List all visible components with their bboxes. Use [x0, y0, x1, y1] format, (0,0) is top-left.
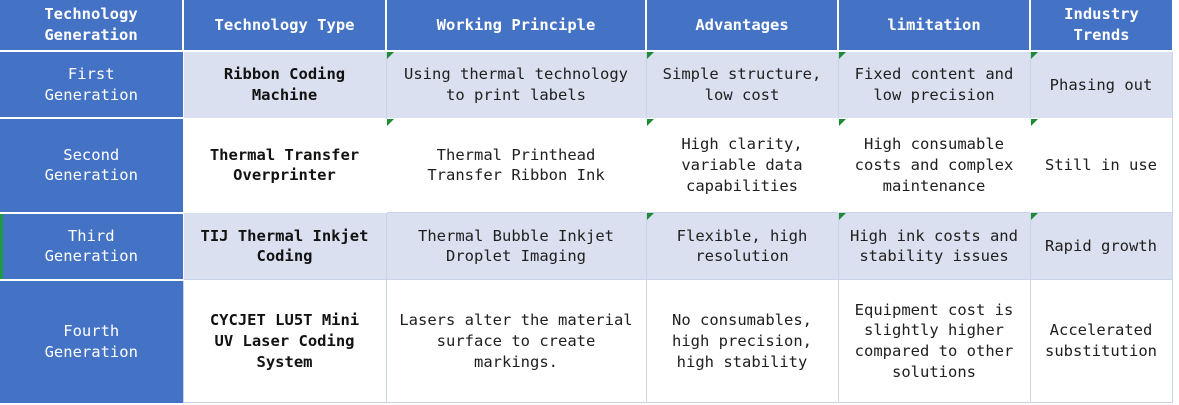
cell-limitation[interactable]: High ink costs andstability issues	[838, 213, 1030, 280]
cell-advantages[interactable]: Flexible, highresolution	[646, 213, 838, 280]
column-header-limitation[interactable]: limitation	[838, 0, 1030, 51]
column-header-line-1: Industry	[1035, 4, 1168, 25]
cell-text: Thermal TransferOverprinter	[188, 145, 382, 187]
table-row: Fourth Generation CYCJET LU5T MiniUV Las…	[0, 280, 1172, 403]
cell-text: Equipment cost isslightly highercompared…	[843, 300, 1026, 383]
column-header-technology-generation[interactable]: Technology Generation	[0, 0, 183, 51]
cell-text: Simple structure,low cost	[651, 64, 834, 106]
comment-marker-icon	[647, 213, 654, 220]
comment-marker-icon	[1031, 52, 1038, 59]
column-header-technology-type[interactable]: Technology Type	[183, 0, 386, 51]
cell-text: Acceleratedsubstitution	[1035, 320, 1168, 362]
cell-text: CYCJET LU5T MiniUV Laser CodingSystem	[188, 310, 382, 372]
cell-technology-generation[interactable]: Second Generation	[0, 118, 183, 212]
cell-text: Thermal Bubble InkjetDroplet Imaging	[391, 226, 642, 268]
cell-text: Phasing out	[1050, 76, 1153, 94]
cell-limitation[interactable]: High consumablecosts and complexmaintena…	[838, 118, 1030, 212]
cell-limitation[interactable]: Fixed content andlow precision	[838, 51, 1030, 118]
cell-text: High consumablecosts and complexmaintena…	[843, 134, 1026, 196]
comment-marker-icon	[387, 52, 394, 59]
column-header-line-2: Trends	[1035, 25, 1168, 46]
comparison-table-container: Technology Generation Technology Type Wo…	[0, 0, 1172, 403]
cell-working-principle[interactable]: Lasers alter the materialsurface to crea…	[386, 280, 646, 403]
generation-line-1: Fourth	[4, 321, 179, 342]
cell-advantages[interactable]: Simple structure,low cost	[646, 51, 838, 118]
cell-text: High clarity,variable datacapabilities	[651, 134, 834, 196]
cell-advantages[interactable]: High clarity,variable datacapabilities	[646, 118, 838, 212]
table-header-row: Technology Generation Technology Type Wo…	[0, 0, 1172, 51]
cell-working-principle[interactable]: Thermal Bubble InkjetDroplet Imaging	[386, 213, 646, 280]
row-selection-marker	[0, 214, 3, 279]
comment-marker-icon	[647, 52, 654, 59]
cell-text: Using thermal technologyto print labels	[391, 64, 642, 106]
generation-line-1: Third	[4, 226, 179, 247]
cell-industry-trends[interactable]: Acceleratedsubstitution	[1030, 280, 1172, 403]
cell-technology-generation[interactable]: First Generation	[0, 51, 183, 118]
column-header-line-2: Generation	[4, 25, 178, 46]
cell-text: TIJ Thermal InkjetCoding	[188, 226, 382, 268]
cell-text: Lasers alter the materialsurface to crea…	[391, 310, 642, 372]
cell-industry-trends[interactable]: Rapid growth	[1030, 213, 1172, 280]
generation-line-2: Generation	[4, 85, 179, 106]
cell-advantages[interactable]: No consumables,high precision,high stabi…	[646, 280, 838, 403]
comment-marker-icon	[839, 119, 846, 126]
cell-working-principle[interactable]: Thermal PrintheadTransfer Ribbon Ink	[386, 118, 646, 212]
cell-text: Flexible, highresolution	[651, 226, 834, 268]
cell-working-principle[interactable]: Using thermal technologyto print labels	[386, 51, 646, 118]
cell-limitation[interactable]: Equipment cost isslightly highercompared…	[838, 280, 1030, 403]
cell-technology-type[interactable]: Ribbon CodingMachine	[183, 51, 386, 118]
comment-marker-icon	[647, 119, 654, 126]
cell-text: No consumables,high precision,high stabi…	[651, 310, 834, 372]
cell-industry-trends[interactable]: Phasing out	[1030, 51, 1172, 118]
cell-technology-generation[interactable]: Fourth Generation	[0, 280, 183, 403]
comment-marker-icon	[839, 52, 846, 59]
comment-marker-icon	[839, 213, 846, 220]
generation-line-2: Generation	[4, 342, 179, 363]
cell-text: Still in use	[1045, 156, 1157, 174]
cell-industry-trends[interactable]: Still in use	[1030, 118, 1172, 212]
generation-line-2: Generation	[4, 246, 179, 267]
generation-line-2: Generation	[4, 165, 179, 186]
cell-technology-type[interactable]: TIJ Thermal InkjetCoding	[183, 213, 386, 280]
technology-generation-comparison-table: Technology Generation Technology Type Wo…	[0, 0, 1173, 403]
comment-marker-icon	[387, 119, 394, 126]
column-header-working-principle[interactable]: Working Principle	[386, 0, 646, 51]
column-header-industry-trends[interactable]: Industry Trends	[1030, 0, 1172, 51]
cell-text: Rapid growth	[1045, 237, 1157, 255]
comment-marker-icon	[1031, 119, 1038, 126]
cell-technology-type[interactable]: CYCJET LU5T MiniUV Laser CodingSystem	[183, 280, 386, 403]
cell-technology-type[interactable]: Thermal TransferOverprinter	[183, 118, 386, 212]
cell-text: Fixed content andlow precision	[843, 64, 1026, 106]
comment-marker-icon	[1031, 213, 1038, 220]
column-header-line-1: Technology	[4, 4, 178, 25]
generation-line-1: First	[4, 64, 179, 85]
table-row: Second Generation Thermal TransferOverpr…	[0, 118, 1172, 212]
cell-text: Ribbon CodingMachine	[188, 64, 382, 106]
cell-text: High ink costs andstability issues	[843, 226, 1026, 268]
table-row: Third Generation TIJ Thermal InkjetCodin…	[0, 213, 1172, 280]
column-header-advantages[interactable]: Advantages	[646, 0, 838, 51]
cell-technology-generation[interactable]: Third Generation	[0, 213, 183, 280]
cell-text: Thermal PrintheadTransfer Ribbon Ink	[391, 145, 642, 187]
table-row: First Generation Ribbon CodingMachine Us…	[0, 51, 1172, 118]
generation-line-1: Second	[4, 145, 179, 166]
